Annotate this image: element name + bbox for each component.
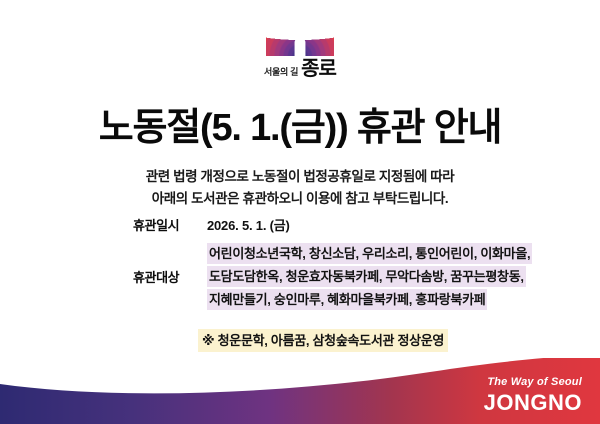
page-title: 노동절(5. 1.(금)) 휴관 안내 <box>0 96 600 151</box>
gate-shape <box>266 14 334 56</box>
normal-operation-note: ※ 청운문학, 아름꿈, 삼청숲속도서관 정상운영 <box>198 329 448 352</box>
closure-target-list: 어린이청소년국학, 창신소담, 우리소리, 통인어린이, 이화마을, 도담도담한… <box>203 243 532 312</box>
note-text: ※ 청운문학, 아름꿈, 삼청숲속도서관 정상운영 <box>198 329 448 352</box>
logo-wordmark: 서울의 길종로 <box>0 59 600 79</box>
target-line: 어린이청소년국학, 창신소담, 우리소리, 통인어린이, 이화마을, <box>207 243 532 264</box>
target-line: 지혜만들기, 숭인마루, 혜화마을북카페, 홍파랑북카페 <box>207 289 487 310</box>
lead-line-1: 관련 법령 개정으로 노동절이 법정공휴일로 지정됨에 따라 <box>0 166 600 188</box>
closure-target-label: 휴관대상 <box>133 268 203 287</box>
poster-root: 서울의 길종로 노동절(5. 1.(금)) 휴관 안내 관련 법령 개정으로 노… <box>0 0 600 424</box>
jongno-gate-logo-icon <box>266 14 334 56</box>
footer-wave: The Way of Seoul JONGNO <box>0 358 600 424</box>
logo-title: 종로 <box>301 58 336 80</box>
closure-target-row: 휴관대상 어린이청소년국학, 창신소담, 우리소리, 통인어린이, 이화마을, … <box>133 243 553 312</box>
footer-brand-name: JONGNO <box>484 392 582 414</box>
footer-tagline: The Way of Seoul <box>484 377 582 388</box>
logo-subtitle: 서울의 길 <box>264 67 298 77</box>
lead-paragraph: 관련 법령 개정으로 노동절이 법정공휴일로 지정됨에 따라 아래의 도서관은 … <box>0 166 600 210</box>
jongno-logo: 서울의 길종로 <box>0 14 600 79</box>
closure-date-value: 2026. 5. 1. (금) <box>203 216 290 235</box>
footer-brand: The Way of Seoul JONGNO <box>484 377 582 414</box>
info-block: 휴관일시 2026. 5. 1. (금) 휴관대상 어린이청소년국학, 창신소담… <box>133 216 553 312</box>
lead-line-2: 아래의 도서관은 휴관하오니 이용에 참고 부탁드립니다. <box>0 188 600 210</box>
closure-date-label: 휴관일시 <box>133 216 203 235</box>
closure-date-row: 휴관일시 2026. 5. 1. (금) <box>133 216 553 235</box>
target-line: 도담도담한옥, 청운효자동북카페, 무악다솜방, 꿈꾸는평창동, <box>207 266 526 287</box>
